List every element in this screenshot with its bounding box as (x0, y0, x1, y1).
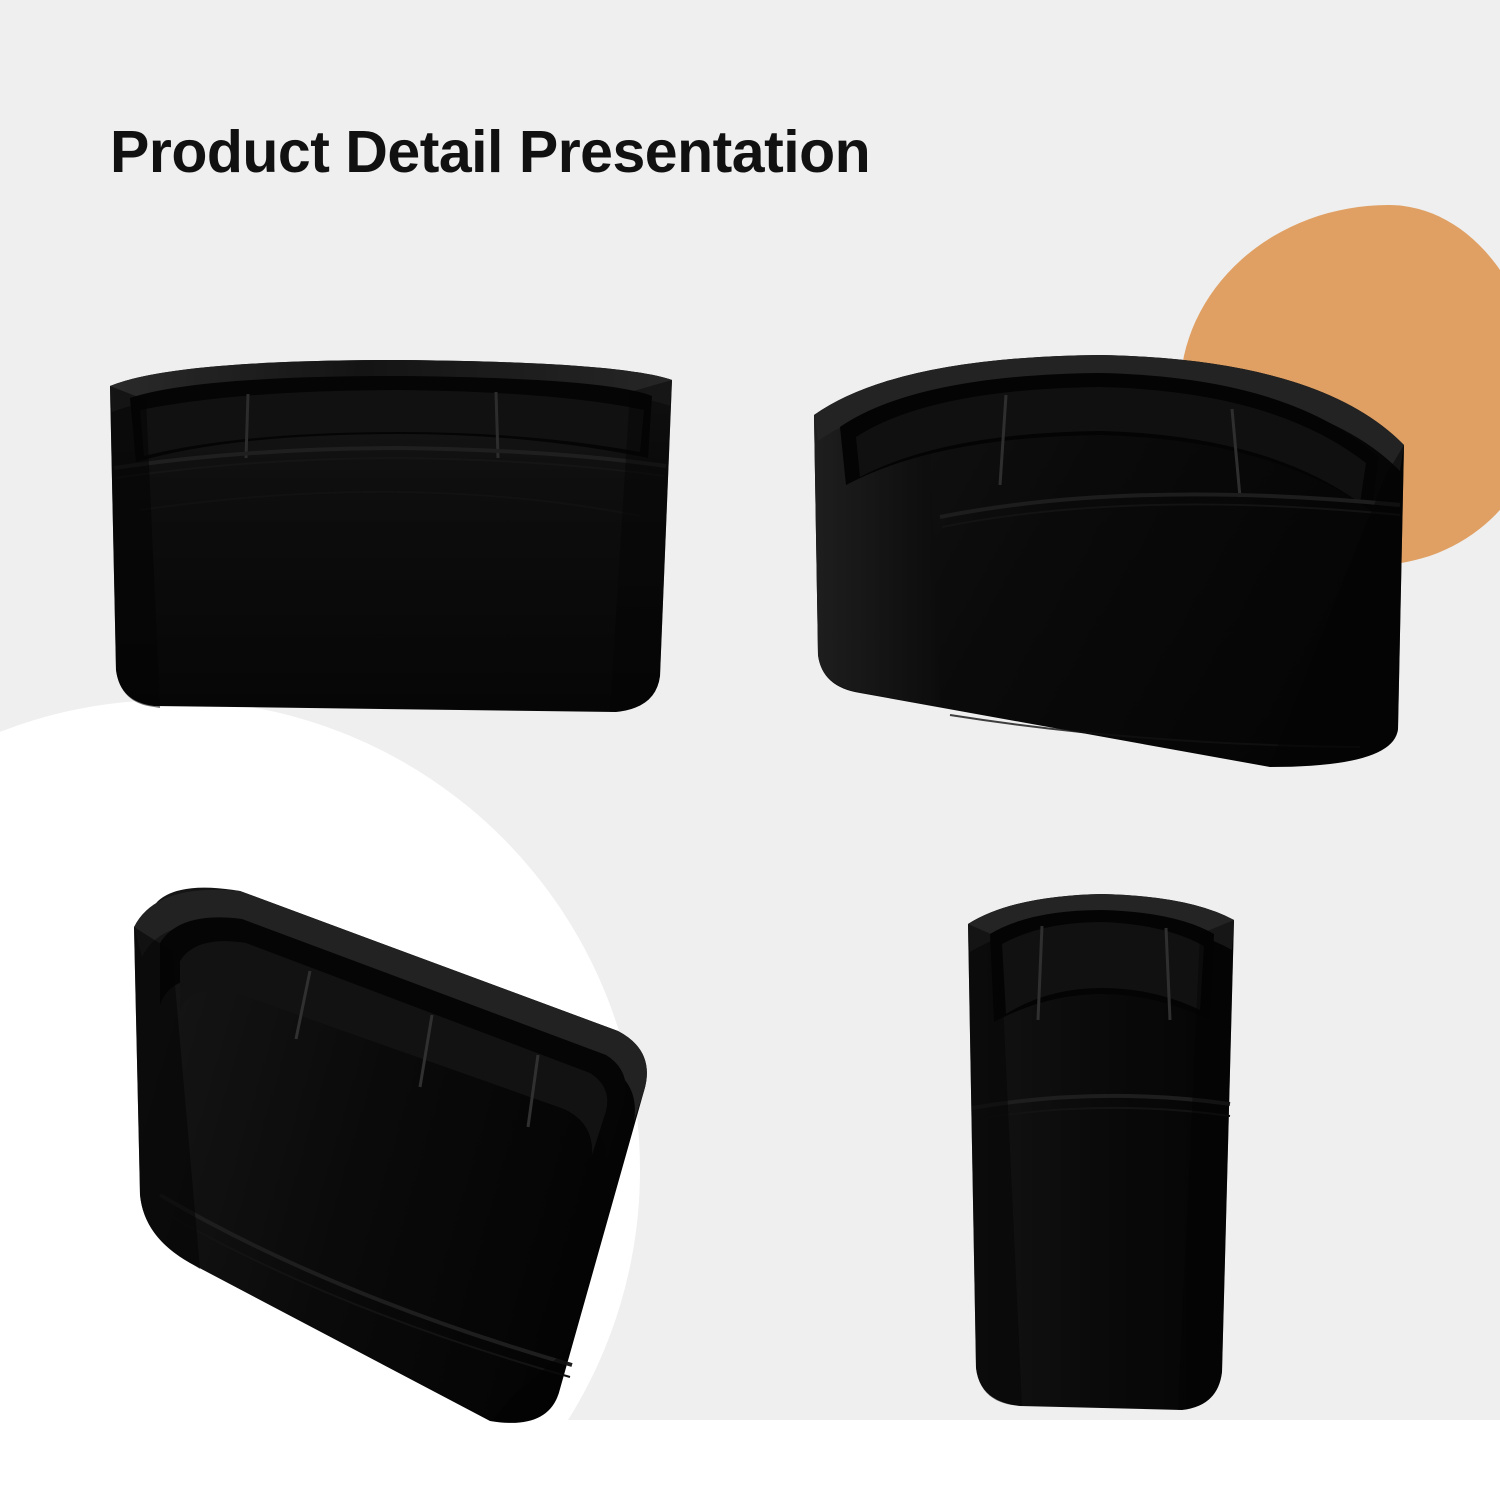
product-image-bag-organizer-narrow-view (950, 880, 1250, 1420)
product-presentation-page: Product Detail Presentation (0, 0, 1500, 1500)
product-image-bag-organizer-front-view (100, 340, 700, 740)
product-image-bag-organizer-open-top-view (120, 865, 680, 1425)
bag-organizer-front-view-illustration (100, 340, 700, 740)
bag-organizer-narrow-view-illustration (950, 880, 1250, 1420)
bag-organizer-open-top-view-illustration (120, 865, 680, 1425)
product-image-bag-organizer-angled-view (800, 335, 1420, 795)
decorative-white-bottom-band (0, 1420, 1500, 1500)
bag-organizer-angled-view-illustration (800, 335, 1420, 795)
page-title: Product Detail Presentation (110, 118, 870, 186)
